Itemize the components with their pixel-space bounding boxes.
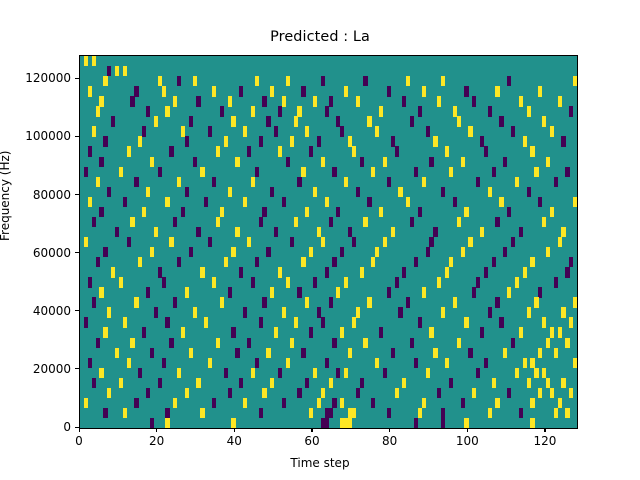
heatmap-cell (499, 197, 503, 207)
heatmap-cell (165, 197, 169, 207)
heatmap-cell (426, 126, 430, 136)
heatmap-cell (123, 317, 127, 327)
heatmap-cell (189, 247, 193, 257)
heatmap-cell (115, 66, 119, 76)
heatmap-cell (251, 368, 255, 378)
y-tick-label: 60000 (0, 246, 71, 260)
heatmap-cell (542, 116, 546, 126)
heatmap-cell (565, 267, 569, 277)
heatmap-cell (348, 418, 352, 428)
heatmap-cell (243, 398, 247, 408)
heatmap-cell (484, 358, 488, 368)
heatmap-cell (294, 217, 298, 227)
heatmap-cell (495, 217, 499, 227)
heatmap-cell (107, 187, 111, 197)
heatmap-cell (259, 136, 263, 146)
heatmap-cell (294, 116, 298, 126)
x-tick-label: 120 (533, 434, 556, 448)
heatmap-cell (569, 388, 573, 398)
heatmap-cell (259, 217, 263, 227)
heatmap-cell (414, 418, 418, 428)
heatmap-cell (193, 157, 197, 167)
x-tick-label: 40 (227, 434, 242, 448)
heatmap-cell (103, 76, 107, 86)
heatmap-cell (162, 86, 166, 96)
heatmap-cell (527, 187, 531, 197)
heatmap-cell (107, 388, 111, 398)
heatmap-cell (340, 126, 344, 136)
heatmap-cell (301, 257, 305, 267)
heatmap-cell (84, 317, 88, 327)
heatmap-cell (398, 187, 402, 197)
heatmap-cell (344, 277, 348, 287)
heatmap-cell (538, 348, 542, 358)
heatmap-cell (457, 338, 461, 348)
heatmap-cell (561, 227, 565, 237)
heatmap-cell (484, 146, 488, 156)
heatmap-cell (573, 358, 577, 368)
heatmap-cell (216, 146, 220, 156)
y-tick-mark (75, 310, 79, 311)
heatmap-cell (325, 106, 329, 116)
heatmap-cell (92, 126, 96, 136)
heatmap-cell (290, 338, 294, 348)
heatmap-cell (196, 378, 200, 388)
heatmap-cell (224, 136, 228, 146)
heatmap-cell (88, 358, 92, 368)
heatmap-cell (391, 227, 395, 237)
heatmap-cell (542, 317, 546, 327)
heatmap-cell (138, 136, 142, 146)
heatmap-cell (228, 287, 232, 297)
heatmap-cell (123, 197, 127, 207)
heatmap-cell (107, 307, 111, 317)
x-tick-mark (79, 428, 80, 432)
heatmap-cell (550, 327, 554, 337)
heatmap-cell (282, 307, 286, 317)
heatmap-cell (422, 177, 426, 187)
figure-canvas: Predicted : La 0200004000060000800001000… (0, 0, 640, 480)
heatmap-cell (84, 167, 88, 177)
heatmap-cell (387, 408, 391, 418)
heatmap-cell (274, 126, 278, 136)
heatmap-cell (445, 358, 449, 368)
heatmap-cell (387, 287, 391, 297)
heatmap-cell (558, 237, 562, 247)
heatmap-cell (103, 136, 107, 146)
heatmap-cell (309, 146, 313, 156)
heatmap-cell (92, 56, 96, 66)
y-tick-mark (75, 368, 79, 369)
heatmap-cell (414, 167, 418, 177)
heatmap-cell (453, 297, 457, 307)
heatmap-cell (165, 317, 169, 327)
heatmap-cell (550, 207, 554, 217)
heatmap-cell (569, 317, 573, 327)
x-tick-mark (389, 428, 390, 432)
heatmap-cell (441, 76, 445, 86)
heatmap-cell (329, 408, 333, 418)
heatmap-cell (208, 358, 212, 368)
heatmap-cell (286, 76, 290, 86)
heatmap-cell (406, 297, 410, 307)
heatmap-cell (379, 327, 383, 337)
heatmap-cell (441, 307, 445, 317)
heatmap-cell (468, 126, 472, 136)
heatmap-cell (162, 358, 166, 368)
heatmap-cell (414, 257, 418, 267)
heatmap-cell (134, 177, 138, 187)
y-tick-label: 100000 (0, 129, 71, 143)
heatmap-cell (158, 167, 162, 177)
heatmap-cell (340, 398, 344, 408)
heatmap-cell (321, 237, 325, 247)
heatmap-cell (231, 247, 235, 257)
heatmap-cell (480, 227, 484, 237)
heatmap-cell (235, 348, 239, 358)
heatmap-cell (387, 86, 391, 96)
heatmap-cell (325, 418, 329, 428)
heatmap-cell (228, 187, 232, 197)
heatmap-cell (224, 257, 228, 267)
heatmap-cell (325, 197, 329, 207)
heatmap-cell (282, 398, 286, 408)
heatmap-cell (480, 327, 484, 337)
heatmap-cell (329, 378, 333, 388)
heatmap-cell (360, 378, 364, 388)
heatmap-cell (332, 338, 336, 348)
heatmap-cell (243, 307, 247, 317)
heatmap-cell (406, 197, 410, 207)
heatmap-cell (111, 116, 115, 126)
heatmap-cell (317, 398, 321, 408)
heatmap-cell (534, 368, 538, 378)
heatmap-cell (499, 116, 503, 126)
heatmap-cell (130, 96, 134, 106)
heatmap-cell (321, 388, 325, 398)
heatmap-cell (565, 167, 569, 177)
heatmap-cell (363, 338, 367, 348)
heatmap-cell (119, 378, 123, 388)
heatmap-cell (402, 267, 406, 277)
heatmap-cell (503, 157, 507, 167)
heatmap-cell (356, 96, 360, 106)
heatmap-cell (449, 378, 453, 388)
heatmap-cell (127, 237, 131, 247)
heatmap-cell (243, 126, 247, 136)
heatmap-cell (127, 358, 131, 368)
heatmap-cell (262, 297, 266, 307)
heatmap-cell (511, 237, 515, 247)
heatmap-cell (286, 358, 290, 368)
x-tick-mark (311, 428, 312, 432)
heatmap-cell (538, 388, 542, 398)
heatmap-cell (317, 307, 321, 317)
heatmap-cell (530, 146, 534, 156)
heatmap-cell (150, 247, 154, 257)
heatmap-cell (457, 217, 461, 227)
heatmap-cell (515, 277, 519, 287)
heatmap-cell (495, 297, 499, 307)
heatmap-cell (519, 227, 523, 237)
heatmap-cell (173, 398, 177, 408)
heatmap-cell (208, 126, 212, 136)
heatmap-cell (231, 116, 235, 126)
heatmap-cell (472, 287, 476, 297)
heatmap-cell (336, 368, 340, 378)
heatmap-cell (309, 408, 313, 418)
heatmap-cell (519, 327, 523, 337)
heatmap-cell (204, 197, 208, 207)
y-tick-mark (75, 78, 79, 79)
heatmap-cell (530, 418, 534, 428)
heatmap-cell (569, 106, 573, 116)
heatmap-cell (142, 126, 146, 136)
y-tick-mark (75, 252, 79, 253)
heatmap-cell (235, 227, 239, 237)
heatmap-cell (181, 327, 185, 337)
heatmap-cell (301, 167, 305, 177)
heatmap-cell (282, 96, 286, 106)
heatmap-cell (395, 388, 399, 398)
heatmap-cell (282, 197, 286, 207)
heatmap-cell (92, 297, 96, 307)
heatmap-cell (301, 86, 305, 96)
heatmap-cell (119, 167, 123, 177)
heatmap-cell (290, 136, 294, 146)
heatmap-cell (445, 146, 449, 156)
heatmap-cell (561, 136, 565, 146)
heatmap-cell (255, 167, 259, 177)
heatmap-cell (317, 136, 321, 146)
heatmap-cell (402, 378, 406, 388)
heatmap-cell (309, 327, 313, 337)
heatmap-cell (480, 136, 484, 146)
heatmap-cell (88, 197, 92, 207)
x-axis-label: Time step (0, 456, 640, 470)
heatmap-cell (247, 146, 251, 156)
heatmap-cell (146, 287, 150, 297)
heatmap-cell (344, 368, 348, 378)
heatmap-cell (325, 358, 329, 368)
heatmap-cell (488, 307, 492, 317)
heatmap-cell (134, 86, 138, 96)
heatmap-cell (573, 76, 577, 86)
heatmap-cell (503, 348, 507, 358)
heatmap-cell (515, 368, 519, 378)
heatmap-cell (228, 96, 232, 106)
heatmap-cell (297, 106, 301, 116)
heatmap-cell (433, 348, 437, 358)
heatmap-cell (165, 106, 169, 116)
heatmap-cell (348, 348, 352, 358)
heatmap-cell (550, 388, 554, 398)
heatmap-cell (329, 96, 333, 106)
heatmap-cell (492, 167, 496, 177)
heatmap-cell (297, 287, 301, 297)
heatmap-cell (538, 197, 542, 207)
heatmap-cell (367, 197, 371, 207)
heatmap-cell (119, 277, 123, 287)
heatmap-cell (356, 187, 360, 197)
heatmap-cell (220, 106, 224, 116)
heatmap-cell (224, 368, 228, 378)
heatmap-cell (146, 106, 150, 116)
heatmap-cell (169, 338, 173, 348)
heatmap-cell (262, 388, 266, 398)
x-tick-label: 60 (304, 434, 319, 448)
heatmap-cell (348, 136, 352, 146)
heatmap-cell (274, 227, 278, 237)
heatmap-cell (379, 207, 383, 217)
heatmap-cell (352, 237, 356, 247)
heatmap-cell (255, 76, 259, 86)
heatmap-cell (538, 86, 542, 96)
heatmap-cell (410, 338, 414, 348)
heatmap-cell (321, 157, 325, 167)
heatmap-cell (251, 277, 255, 287)
heatmap-cell (565, 408, 569, 418)
heatmap-cell (511, 126, 515, 136)
heatmap-cell (375, 126, 379, 136)
heatmap-cell (150, 348, 154, 358)
heatmap-cell (414, 358, 418, 368)
heatmap-cell (255, 257, 259, 267)
heatmap-cell (196, 96, 200, 106)
heatmap-cell (402, 96, 406, 106)
heatmap-cell (177, 177, 181, 187)
heatmap-cell (429, 157, 433, 167)
heatmap-cell (371, 257, 375, 267)
heatmap-cell (507, 388, 511, 398)
heatmap-cell (360, 157, 364, 167)
heatmap-cell (146, 187, 150, 197)
heatmap-cell (181, 207, 185, 217)
x-tick-label: 20 (149, 434, 164, 448)
heatmap-cell (530, 358, 534, 368)
heatmap-cell (196, 227, 200, 237)
heatmap-cell (457, 116, 461, 126)
heatmap-cell (336, 116, 340, 126)
heatmap-cell (554, 177, 558, 187)
heatmap-cell (546, 338, 550, 348)
heatmap-cell (208, 237, 212, 247)
x-tick-label: 100 (456, 434, 479, 448)
heatmap-cell (115, 227, 119, 237)
heatmap-cell (426, 368, 430, 378)
heatmap-cell (495, 86, 499, 96)
heatmap-cell (177, 368, 181, 378)
heatmap-cell (461, 247, 465, 257)
heatmap-cell (453, 197, 457, 207)
heatmap-cell (340, 247, 344, 257)
heatmap-cell (344, 86, 348, 96)
heatmap-cell (441, 418, 445, 428)
heatmap-cell (363, 76, 367, 86)
x-tick-mark (156, 428, 157, 432)
heatmap-cell (173, 297, 177, 307)
heatmap-cell (88, 86, 92, 96)
heatmap-cell (286, 277, 290, 287)
heatmap-cell (270, 86, 274, 96)
heatmap-cell (395, 277, 399, 287)
heatmap-cell (313, 187, 317, 197)
heatmap-cell (344, 177, 348, 187)
heatmap-cell (305, 126, 309, 136)
heatmap-cell (92, 217, 96, 227)
heatmap-cell (558, 398, 562, 408)
heatmap-cell (398, 307, 402, 317)
heatmap-cell (255, 358, 259, 368)
heatmap-cell (383, 237, 387, 247)
heatmap-cell (395, 146, 399, 156)
heatmap-cell (259, 317, 263, 327)
heatmap-cell (391, 348, 395, 358)
heatmap-cell (336, 207, 340, 217)
heatmap-cell (266, 348, 270, 358)
heatmap-cell (266, 116, 270, 126)
heatmap-cell (561, 307, 565, 317)
heatmap-cell (185, 136, 189, 146)
heatmap-cell (468, 348, 472, 358)
heatmap-cell (309, 247, 313, 257)
heatmap-cell (177, 257, 181, 267)
heatmap-cell (177, 76, 181, 86)
heatmap-cell (181, 126, 185, 136)
heatmap-cell (367, 297, 371, 307)
heatmap-cell (488, 408, 492, 418)
heatmap-cell (84, 237, 88, 247)
heatmap-cell (367, 116, 371, 126)
heatmap-cell (107, 66, 111, 76)
heatmap-cell (515, 177, 519, 187)
heatmap-cell (313, 277, 317, 287)
heatmap-cell (189, 116, 193, 126)
heatmap-cell (99, 287, 103, 297)
heatmap-cell (193, 76, 197, 86)
heatmap-cell (418, 317, 422, 327)
heatmap-cell (204, 317, 208, 327)
heatmap-cell (301, 348, 305, 358)
heatmap-cell (406, 76, 410, 86)
heatmap-cell (200, 408, 204, 418)
y-tick-label: 20000 (0, 362, 71, 376)
heatmap-cell (507, 207, 511, 217)
heatmap-cell (371, 167, 375, 177)
heatmap-cell (340, 327, 344, 337)
heatmap-cell (538, 287, 542, 297)
heatmap-cell (127, 146, 131, 156)
heatmap-cell (449, 167, 453, 177)
heatmap-cell (375, 358, 379, 368)
heatmap-cell (464, 86, 468, 96)
heatmap-cell (363, 217, 367, 227)
heatmap-cell (418, 106, 422, 116)
y-tick-label: 40000 (0, 304, 71, 318)
heatmap-cells (80, 56, 577, 428)
heatmap-cell (220, 297, 224, 307)
heatmap-cell (523, 136, 527, 146)
heatmap-cell (165, 418, 169, 428)
heatmap-cell (561, 378, 565, 388)
heatmap-cell (305, 207, 309, 217)
heatmap-cell (437, 277, 441, 287)
heatmap-cell (375, 247, 379, 257)
heatmap-cell (154, 227, 158, 237)
heatmap-cell (138, 257, 142, 267)
heatmap-cell (476, 277, 480, 287)
heatmap-cell (231, 418, 235, 428)
